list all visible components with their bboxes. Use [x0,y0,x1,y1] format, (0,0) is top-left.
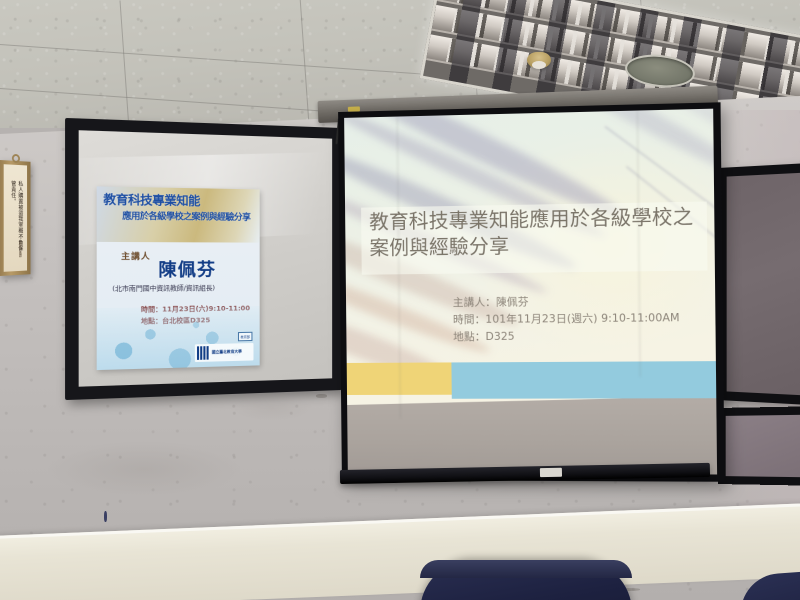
screen-pull-tab[interactable] [540,468,562,477]
whiteboard-left[interactable]: ······ 教育科技專業知能 應用於各級學校之案例與經驗分享 主講人 陳佩芬 … [65,118,342,400]
slide-title: 教育科技專業知能應用於各級學校之 案例與經驗分享 [369,204,709,262]
slide-speaker: 主講人：陳佩芬 [453,292,680,312]
poster-title-line2: 應用於各級學校之案例與經驗分享 [122,209,250,223]
poster-title-line1: 教育科技專業知能 [103,191,200,209]
board-brand-label: ······ [305,130,318,136]
plaque-hook-icon [12,154,20,163]
smoke-detector-icon [527,52,551,68]
chair [420,560,632,600]
slide-time: 時間：101年11月23日(週六) 9:10-11:00AM [453,310,680,329]
poster-logo-text: 國立臺北教育大學 [212,350,242,355]
poster-badge: 教育部 [238,332,252,342]
slide-title-line2: 案例與經驗分享 [369,230,709,261]
presentation-slide: 教育科技專業知能應用於各級學校之 案例與經驗分享 主講人：陳佩芬 時間：101年… [344,109,717,475]
whiteboard-right[interactable] [718,163,800,406]
slide-footer-grey [347,396,717,474]
university-logo-icon [197,346,210,360]
slide-location: 地點：D325 [453,327,680,346]
classroom-photo: 私人購置被盜我室概不負保管責任。 總務處 敬啟 ······ 教育科技專業知能 … [0,0,800,600]
slide-title-line1: 教育科技專業知能應用於各級學校之 [369,204,709,236]
poster-affiliation: (北市南門國中資訊教師/資訊組長) [112,282,215,293]
projection-screen[interactable]: 教育科技專業知能應用於各級學校之 案例與經驗分享 主講人：陳佩芬 時間：101年… [338,102,725,481]
wall-plaque: 私人購置被盜我室概不負保管責任。 總務處 敬啟 [0,160,31,276]
seminar-poster: 教育科技專業知能 應用於各級學校之案例與經驗分享 主講人 陳佩芬 (北市南門國中… [97,186,260,370]
slide-body: 主講人：陳佩芬 時間：101年11月23日(週六) 9:10-11:00AM 地… [453,292,680,346]
wall-mark [316,394,327,398]
wall-mark [104,511,107,522]
poster-speaker-label: 主講人 [121,251,151,263]
poster-logo: 國立臺北教育大學 [195,343,254,362]
plaque-signature: 總務處 敬啟 [18,241,22,258]
slide-footer-blue [451,361,717,399]
poster-speaker-name: 陳佩芬 [158,255,216,281]
chair-headrest [420,560,632,578]
whiteboard-right-lower[interactable] [718,406,800,486]
